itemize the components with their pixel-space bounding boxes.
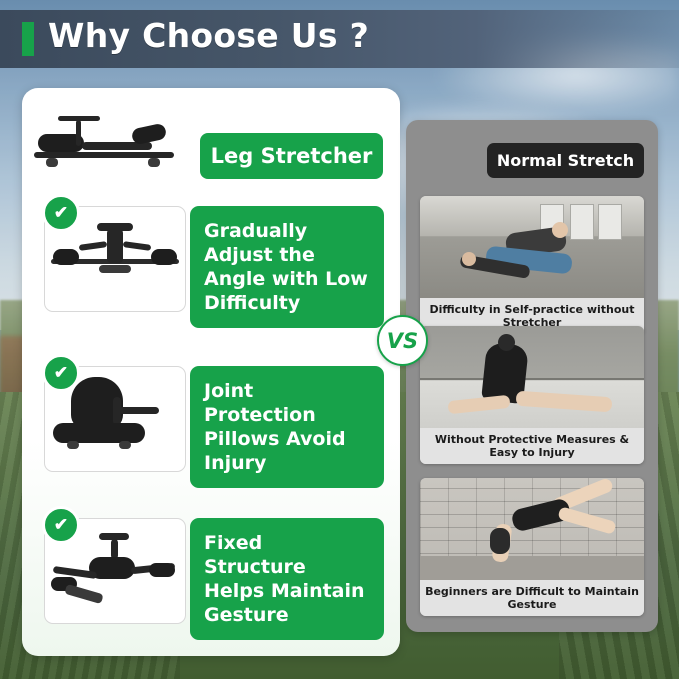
page-title: Why Choose Us ? xyxy=(48,16,369,55)
base-pad xyxy=(53,423,145,443)
card-caption: Beginners are Difficult to Maintain Gest… xyxy=(420,580,644,616)
check-icon: ✔ xyxy=(42,194,80,232)
normal-stretch-badge: Normal Stretch xyxy=(487,143,644,178)
left-foot-pad xyxy=(53,249,79,265)
right-arm xyxy=(123,241,152,251)
feature-text: Joint Protection Pillows Avoid Injury xyxy=(190,366,384,488)
window-pane-2 xyxy=(598,204,622,240)
lower-leg xyxy=(64,584,103,604)
hero-handle xyxy=(58,116,100,121)
right-foot-pad xyxy=(151,249,177,265)
header-accent-bar xyxy=(22,22,34,56)
check-icon: ✔ xyxy=(42,354,80,392)
hero-foot-right xyxy=(148,158,160,167)
column-top xyxy=(97,223,133,231)
person-head xyxy=(498,334,515,351)
wheel-right xyxy=(119,441,131,449)
support-arm xyxy=(119,407,159,414)
leg-stretcher-full-machine xyxy=(32,112,192,182)
gym-floor-partner-stretch-photo xyxy=(420,196,644,298)
feature-text: Gradually Adjust the Angle with Low Diff… xyxy=(190,206,384,328)
brick-wall-handstand-photo xyxy=(420,478,644,580)
right-end-pad xyxy=(149,563,175,577)
hero-foot-left xyxy=(46,158,58,167)
card-caption: Without Protective Measures & Easy to In… xyxy=(420,428,644,464)
person-head xyxy=(490,528,510,554)
hero-back-pad xyxy=(131,123,168,146)
person-front-leg xyxy=(516,391,613,413)
left-arm xyxy=(79,241,108,251)
card-beginner-gesture: Beginners are Difficult to Maintain Gest… xyxy=(420,478,644,616)
base-block xyxy=(99,265,131,273)
feature-text: Fixed Structure Helps Maintain Gesture xyxy=(190,518,384,640)
floor-strip xyxy=(420,556,644,580)
support-post xyxy=(113,397,121,425)
wheel-left xyxy=(67,441,79,449)
card-self-practice: Difficulty in Self-practice without Stre… xyxy=(420,196,644,334)
check-icon: ✔ xyxy=(42,506,80,544)
vs-badge: VS xyxy=(377,315,428,366)
head-lower xyxy=(462,252,476,266)
product-name-label: Leg Stretcher xyxy=(200,133,383,179)
window-pane-1 xyxy=(570,204,594,240)
upright xyxy=(111,539,118,559)
card-no-protection: Without Protective Measures & Easy to In… xyxy=(420,326,644,464)
hero-post xyxy=(76,120,81,146)
studio-floor-split-photo xyxy=(420,326,644,428)
center-column xyxy=(107,229,123,263)
person-back-leg xyxy=(447,395,510,414)
wall-baseboard xyxy=(420,378,644,380)
head-upper xyxy=(552,222,568,238)
header-band: Why Choose Us ? xyxy=(0,10,679,68)
machine-art-hero xyxy=(32,112,192,182)
